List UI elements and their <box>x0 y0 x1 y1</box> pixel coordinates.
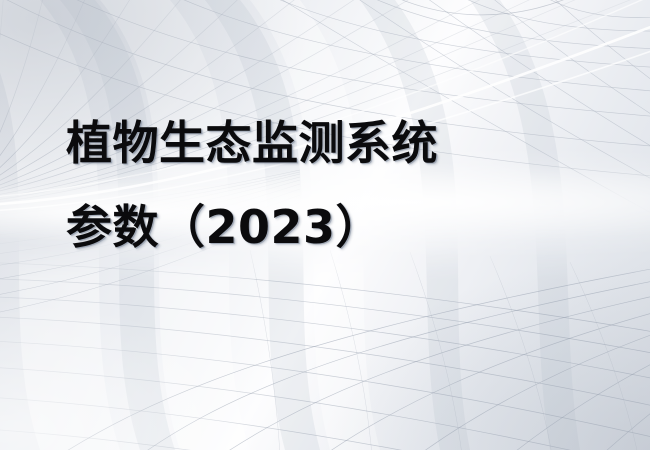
slide-title: 植物生态监测系统 参数（2023） <box>66 120 606 250</box>
title-line-2: 参数（2023） <box>66 204 606 250</box>
slide-canvas: 植物生态监测系统 参数（2023） <box>0 0 650 450</box>
title-line-1: 植物生态监测系统 <box>66 120 606 166</box>
